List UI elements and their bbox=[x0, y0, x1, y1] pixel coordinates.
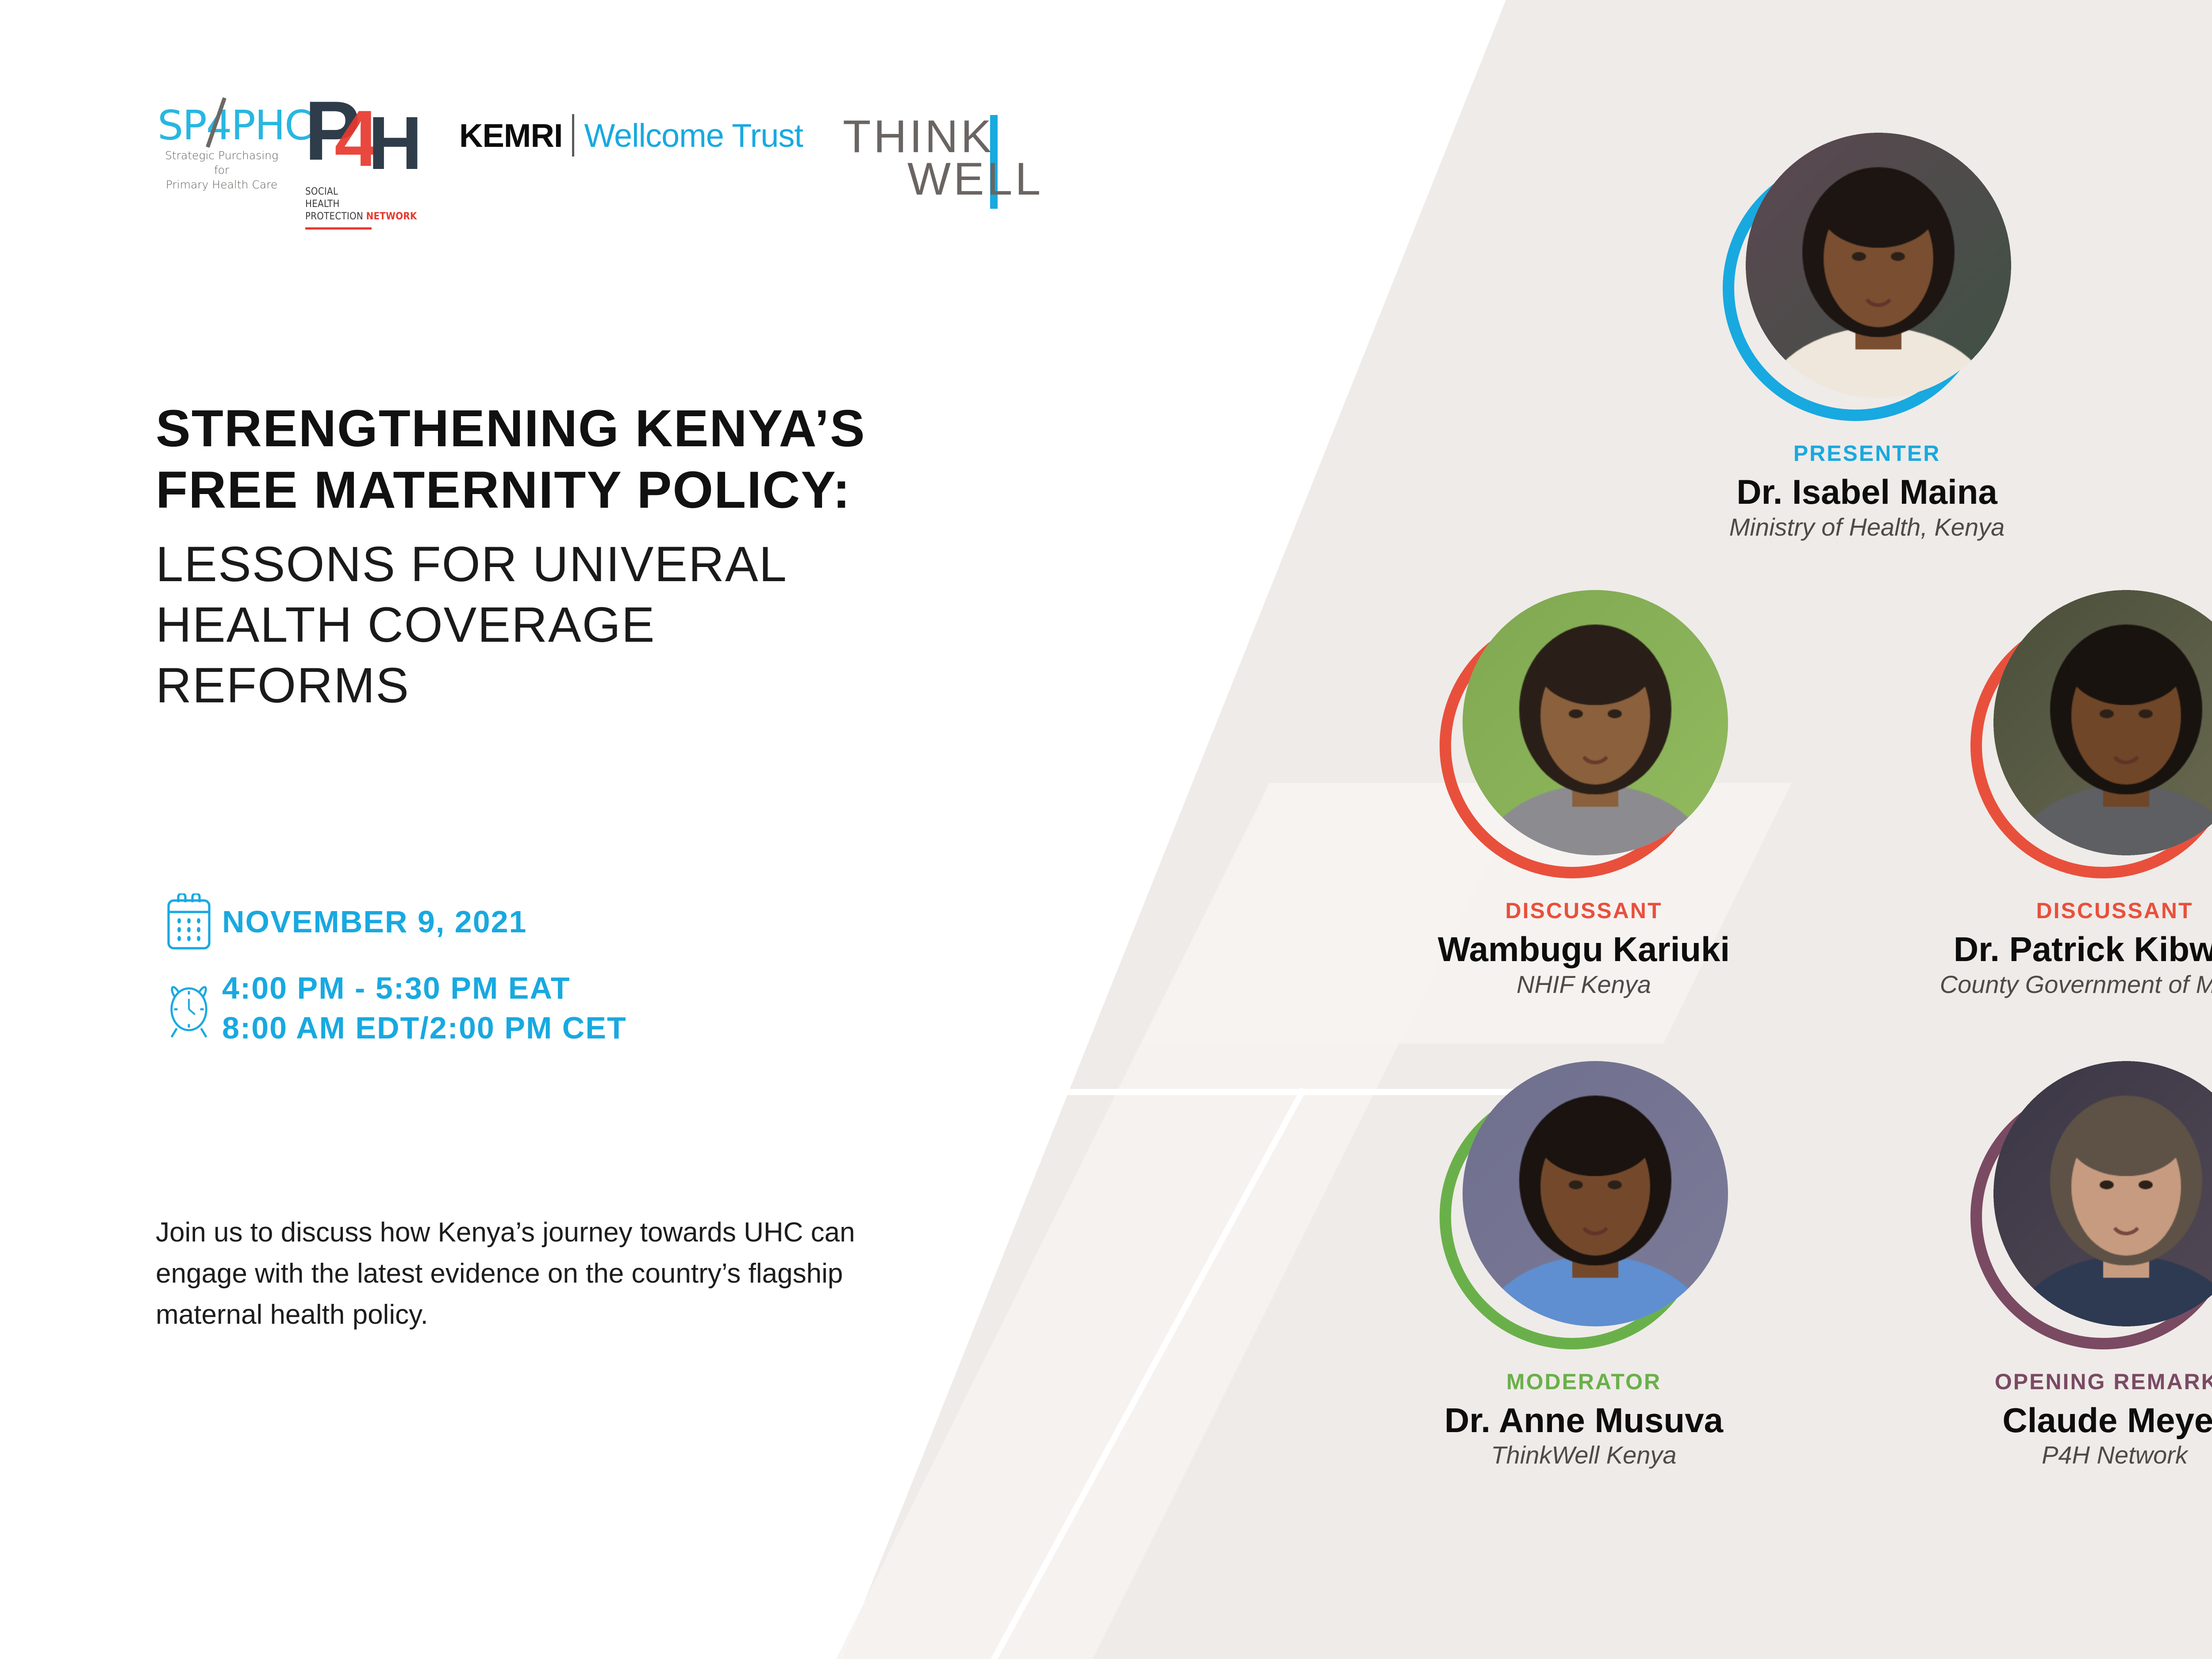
speaker-card[interactable]: OPENING REMARKS Claude Meyer P4H Network bbox=[1849, 1061, 2212, 1471]
speaker-affiliation: KEMRI Wellcome Trust bbox=[2132, 512, 2212, 542]
speaker-affiliation: ThinkWell Kenya bbox=[1318, 1440, 1849, 1470]
page-title: STRENGTHENING KENYA’S FREE MATERNITY POL… bbox=[156, 398, 1173, 716]
subtitle-line-2: HEALTH COVERAGE bbox=[156, 595, 1173, 655]
event-time-line-1: 4:00 PM - 5:30 PM EAT bbox=[222, 971, 571, 1005]
partner-logo-row: SP4PHC Strategic Purchasing for Primary … bbox=[157, 106, 1108, 230]
anne-musuva-photo bbox=[1463, 1061, 1728, 1326]
speaker-role: DISCUSSANT bbox=[1318, 898, 1849, 923]
sp4phc-tagline-line1: Strategic Purchasing for bbox=[157, 148, 286, 177]
title-bold-line-1: STRENGTHENING KENYA’S bbox=[156, 398, 1173, 460]
poster-canvas: SP4PHC Strategic Purchasing for Primary … bbox=[0, 0, 2212, 1659]
event-time-row: 4:00 PM - 5:30 PM EAT 8:00 AM EDT/2:00 P… bbox=[156, 969, 627, 1048]
speaker-role: PRESENTER bbox=[1601, 441, 2132, 466]
p4h-subtitle-line3: PROTECTION NETWORK bbox=[305, 211, 434, 223]
event-date-row: NOVEMBER 9, 2021 bbox=[156, 893, 627, 951]
speaker-card[interactable]: DISCUSSANT Wambugu Kariuki NHIF Kenya bbox=[1318, 590, 1849, 1030]
avatar bbox=[1970, 1061, 2212, 1349]
thinkwell-well-text: WELL bbox=[907, 153, 1043, 206]
speaker-name: Dr. Isabel Maina bbox=[1601, 472, 2132, 512]
sp4phc-wordmark-text: SP4PHC bbox=[157, 102, 312, 149]
kemri-wellcome-trust-logo: KEMRI Wellcome Trust bbox=[459, 114, 803, 157]
speaker-name: Dr. Edwine Barasa bbox=[2132, 472, 2212, 512]
thinkwell-logo: THINK WELL bbox=[843, 111, 1108, 212]
p4h-subtitle-network: NETWORK bbox=[366, 211, 417, 222]
event-date: NOVEMBER 9, 2021 bbox=[222, 902, 527, 942]
speaker-affiliation: Ministry of Health, Kenya bbox=[1601, 512, 2132, 542]
speaker-card[interactable]: DISCUSSANT Dr. Patrick Kibwana County Go… bbox=[1849, 590, 2212, 1030]
speaker-card[interactable]: MODERATOR Dr. Anne Musuva ThinkWell Keny… bbox=[1318, 1061, 1849, 1471]
speaker-name: Claude Meyer bbox=[1849, 1401, 2212, 1441]
speaker-affiliation: County Government of Makueni bbox=[1849, 969, 2212, 1000]
speaker-affiliation: NHIF Kenya bbox=[1318, 969, 1849, 1000]
kemri-wordmark: KEMRI bbox=[459, 117, 562, 154]
wambugu-kariuki-photo bbox=[1463, 590, 1728, 855]
speaker-grid: PRESENTER Dr. Isabel Maina Ministry of H… bbox=[1318, 133, 2212, 1471]
event-time: 4:00 PM - 5:30 PM EAT 8:00 AM EDT/2:00 P… bbox=[222, 969, 627, 1048]
avatar bbox=[1440, 590, 1728, 878]
p4h-subtitle: SOCIAL HEALTH PROTECTION NETWORK bbox=[305, 186, 434, 223]
speaker-role: OPENING REMARKS bbox=[1849, 1369, 2212, 1395]
p4h-letter-h: H bbox=[368, 114, 422, 173]
subtitle-line-1: LESSONS FOR UNIVERAL bbox=[156, 534, 1173, 595]
event-details: NOVEMBER 9, 2021 4:00 PM - 5:30 bbox=[156, 893, 627, 1065]
wellcome-trust-wordmark: Wellcome Trust bbox=[584, 117, 803, 154]
p4h-subtitle-line2: HEALTH bbox=[305, 198, 434, 211]
speaker-name: Dr. Anne Musuva bbox=[1318, 1401, 1849, 1441]
sp4phc-wordmark: SP4PHC bbox=[157, 106, 286, 145]
p4h-logo: P 4 H SOCIAL HEALTH PROTECTION NETWORK bbox=[302, 98, 434, 230]
speaker-name: Dr. Patrick Kibwana bbox=[1849, 930, 2212, 969]
event-time-line-2: 8:00 AM EDT/2:00 PM CET bbox=[222, 1011, 627, 1045]
isabel-maina-photo bbox=[1746, 133, 2011, 398]
avatar bbox=[1723, 133, 2011, 421]
calendar-icon bbox=[156, 893, 222, 951]
sp4phc-tagline: Strategic Purchasing for Primary Health … bbox=[157, 148, 286, 192]
p4h-mark: P 4 H bbox=[302, 98, 434, 174]
speaker-name: Wambugu Kariuki bbox=[1318, 930, 1849, 969]
event-description: Join us to discuss how Kenya’s journey t… bbox=[156, 1212, 952, 1335]
sp4phc-tagline-line2: Primary Health Care bbox=[157, 177, 286, 192]
speaker-card[interactable]: PRESENTER Dr. Edwine Barasa KEMRI Wellco… bbox=[2132, 133, 2212, 572]
speaker-row-2: DISCUSSANT Wambugu Kariuki NHIF Kenya DI… bbox=[1318, 590, 2212, 1030]
speaker-row-1: PRESENTER Dr. Isabel Maina Ministry of H… bbox=[1318, 133, 2212, 572]
kemri-divider bbox=[572, 114, 574, 157]
p4h-underline bbox=[305, 227, 372, 230]
title-bold-line-2: FREE MATERNITY POLICY: bbox=[156, 460, 1173, 521]
speaker-role: PRESENTER bbox=[2132, 441, 2212, 466]
p4h-subtitle-line1: SOCIAL bbox=[305, 186, 434, 198]
avatar bbox=[1970, 590, 2212, 878]
speaker-affiliation: P4H Network bbox=[1849, 1440, 2212, 1470]
p4h-subtitle-protection: PROTECTION bbox=[305, 211, 363, 222]
alarm-clock-icon bbox=[156, 977, 222, 1039]
subtitle-line-3: REFORMS bbox=[156, 655, 1173, 716]
speaker-row-3: MODERATOR Dr. Anne Musuva ThinkWell Keny… bbox=[1318, 1061, 2212, 1471]
speaker-role: MODERATOR bbox=[1318, 1369, 1849, 1395]
avatar bbox=[1440, 1061, 1728, 1349]
speaker-affiliation-2: Research Program, Nairobi bbox=[2132, 542, 2212, 572]
speaker-role: DISCUSSANT bbox=[1849, 898, 2212, 923]
speaker-card[interactable]: PRESENTER Dr. Isabel Maina Ministry of H… bbox=[1601, 133, 2132, 572]
sp4phc-logo: SP4PHC Strategic Purchasing for Primary … bbox=[157, 106, 286, 192]
